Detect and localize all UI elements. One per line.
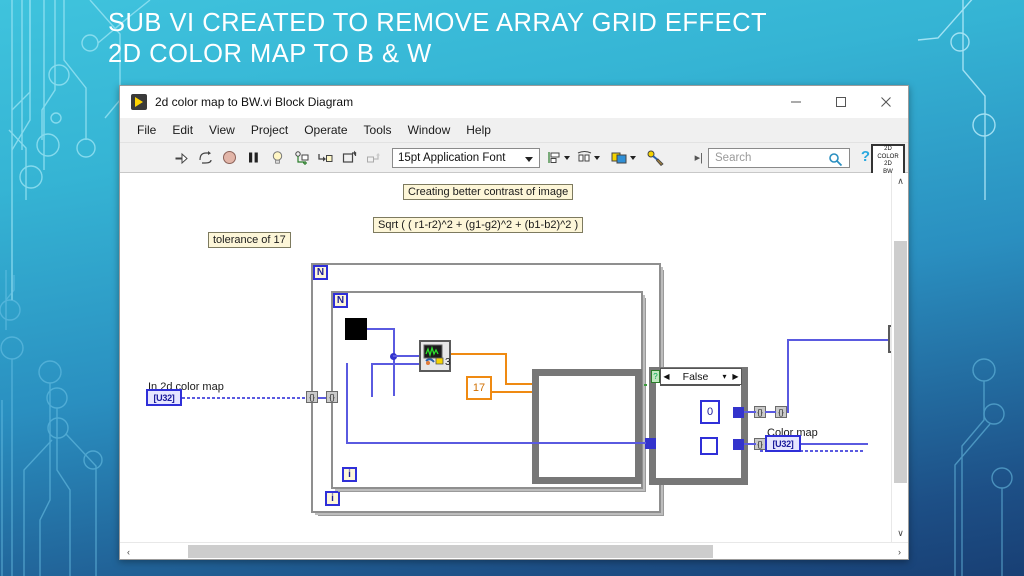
labview-window: 2d color map to BW.vi Block Diagram File… (119, 85, 909, 560)
clean-up-diagram-button[interactable] (646, 149, 667, 166)
distribute-objects-dropdown[interactable] (576, 149, 600, 166)
slide-title-line-1: SUB VI CREATED TO REMOVE ARRAY GRID EFFE… (108, 8, 908, 39)
search-placeholder: Search (715, 152, 751, 164)
tolerance-constant[interactable]: 17 (466, 376, 492, 400)
case-structure[interactable] (532, 369, 642, 484)
retain-wire-values-icon[interactable] (290, 147, 312, 169)
case-selector-text: False (672, 371, 719, 383)
font-selector-value: 15pt Application Font (398, 152, 505, 164)
case-selector-header[interactable]: ◀ False ▾ ▶ (660, 368, 742, 385)
case-output-tunnel-upper[interactable] (733, 407, 744, 418)
highlight-execution-icon[interactable] (266, 147, 288, 169)
subvi-iteration-label: 3 (445, 357, 451, 368)
menu-item-file[interactable]: File (129, 120, 164, 140)
case-selector-terminal[interactable]: ? (651, 370, 660, 383)
case-output-tunnel-lower[interactable] (733, 439, 744, 450)
subvi-glyph-icon (423, 344, 447, 368)
wire-subvi-out (451, 353, 507, 355)
block-diagram-canvas[interactable]: Creating better contrast of image Sqrt (… (120, 173, 891, 542)
labview-vi-icon (131, 94, 147, 110)
vertical-scrollbar-thumb[interactable] (894, 241, 907, 483)
case-dropdown-icon[interactable]: ▾ (719, 372, 730, 381)
step-out-icon[interactable] (362, 147, 384, 169)
case-structure-body (656, 374, 741, 478)
input-terminal[interactable]: [U32] (146, 389, 182, 406)
slide-title-line-2: 2D COLOR MAP TO B & W (108, 39, 908, 70)
window-titlebar[interactable]: 2d color map to BW.vi Block Diagram (120, 86, 908, 118)
menu-item-window[interactable]: Window (400, 120, 459, 140)
note-contrast[interactable]: Creating better contrast of image (403, 184, 573, 200)
vi-badge-line-1: 2D (884, 146, 892, 154)
chevron-down-icon (594, 156, 600, 160)
case-next-arrow-icon[interactable]: ▶ (730, 372, 741, 381)
step-into-icon[interactable] (314, 147, 336, 169)
run-continuously-icon[interactable] (194, 147, 216, 169)
run-arrow-icon[interactable] (170, 147, 192, 169)
menu-item-edit[interactable]: Edit (164, 120, 201, 140)
search-input[interactable]: Search (708, 148, 850, 168)
outer-loop-input-tunnel[interactable]: {} (306, 391, 318, 403)
empty-array-constant[interactable] (700, 437, 718, 455)
toolbar-separator: ▸| (695, 151, 703, 164)
wire-tunnel-bridge-upper (765, 411, 776, 413)
toolbar-run-group (170, 147, 384, 169)
menu-item-project[interactable]: Project (243, 120, 296, 140)
horizontal-scrollbar[interactable]: ‹ › (120, 542, 908, 559)
chevron-down-icon (564, 156, 570, 160)
case-prev-arrow-icon[interactable]: ◀ (661, 372, 672, 381)
note-formula[interactable]: Sqrt ( ( r1-r2)^2 + (g1-g2)^2 + (b1-b2)^… (373, 217, 583, 233)
block-diagram-area: Creating better contrast of image Sqrt (… (120, 173, 908, 542)
vertical-scrollbar[interactable]: ∧ ∨ (891, 173, 908, 542)
wire-black-const-right (367, 328, 395, 330)
slide-title: SUB VI CREATED TO REMOVE ARRAY GRID EFFE… (108, 8, 908, 70)
chevron-down-icon (525, 157, 533, 162)
menubar: File Edit View Project Operate Tools Win… (120, 118, 908, 143)
output-terminal[interactable]: [U32] (765, 435, 801, 452)
wire-out-upper-riser (787, 339, 789, 413)
menu-item-view[interactable]: View (201, 120, 243, 140)
scroll-left-icon[interactable]: ‹ (120, 543, 137, 560)
vi-badge-line-2: COLOR (877, 154, 898, 162)
chevron-down-icon (630, 156, 636, 160)
wire-black-const-down (393, 328, 395, 396)
wire-tunnel-up (371, 363, 373, 397)
outer-loop-output-tunnel-upper[interactable]: {} (775, 406, 787, 418)
inner-loop-input-tunnel[interactable]: {} (326, 391, 338, 403)
scroll-up-icon[interactable]: ∧ (892, 173, 909, 190)
window-controls (773, 86, 908, 118)
close-button[interactable] (863, 86, 908, 118)
outer-loop-index-terminal[interactable]: i (325, 491, 340, 506)
case-input-tunnel[interactable] (645, 438, 656, 449)
align-objects-dropdown[interactable] (546, 149, 570, 166)
inner-loop-index-terminal[interactable]: i (342, 467, 357, 482)
minimize-button[interactable] (773, 86, 818, 118)
black-color-constant[interactable] (345, 318, 367, 340)
menu-item-operate[interactable]: Operate (296, 120, 355, 140)
inner-loop-count-terminal[interactable]: N (333, 293, 348, 308)
menu-item-tools[interactable]: Tools (356, 120, 400, 140)
toolbar: 15pt Application Font ▸| Search ? (120, 143, 908, 173)
wire-subvi-out-down (505, 353, 507, 385)
pause-icon[interactable] (242, 147, 264, 169)
scroll-right-icon[interactable]: › (891, 543, 908, 560)
wire-junction-to-subvi-top (393, 355, 419, 357)
menu-item-help[interactable]: Help (458, 120, 499, 140)
step-over-icon[interactable] (338, 147, 360, 169)
wire-loop-to-case (346, 442, 646, 444)
help-icon[interactable]: ? (861, 148, 870, 165)
maximize-button[interactable] (818, 86, 863, 118)
scroll-down-icon[interactable]: ∨ (892, 525, 909, 542)
wire-case-to-tunnel-upper (744, 411, 756, 413)
resize-objects-dropdown[interactable] (610, 149, 636, 166)
note-tolerance[interactable]: tolerance of 17 (208, 232, 291, 248)
wire-case-to-tunnel-lower (744, 443, 756, 445)
wire-out-upper-run (787, 339, 888, 341)
wire-loop-to-case-riser (346, 363, 348, 444)
vi-badge-line-3: 2D (884, 161, 892, 169)
wire-tunnel-to-subvi-bottom (371, 363, 419, 365)
case-structure-interior (539, 376, 635, 477)
abort-execution-icon[interactable] (218, 147, 240, 169)
horizontal-scrollbar-thumb[interactable] (188, 545, 713, 558)
wire-input-to-loop (182, 397, 307, 399)
outer-loop-count-terminal[interactable]: N (313, 265, 328, 280)
window-title: 2d color map to BW.vi Block Diagram (155, 95, 773, 109)
zero-constant[interactable]: 0 (700, 400, 720, 424)
search-icon[interactable] (828, 152, 843, 167)
font-selector[interactable]: 15pt Application Font (392, 148, 540, 168)
